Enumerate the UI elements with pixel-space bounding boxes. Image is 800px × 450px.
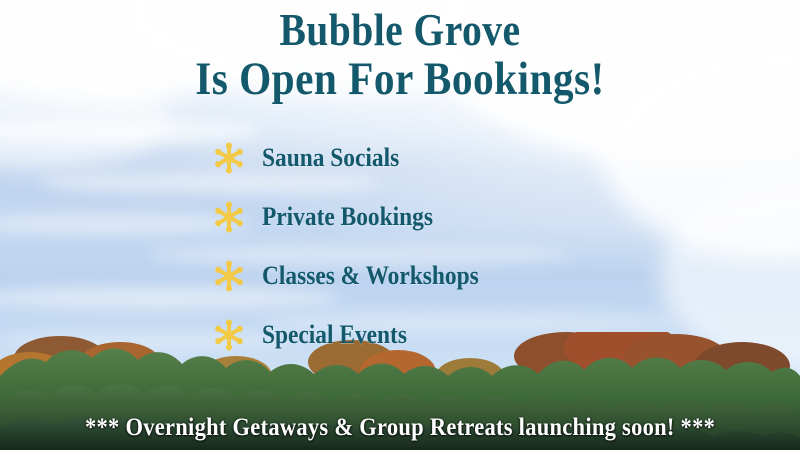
gold-starburst-icon xyxy=(212,318,246,352)
footer-banner: *** Overnight Getaways & Group Retreats … xyxy=(0,414,800,442)
gold-starburst-icon xyxy=(212,200,246,234)
list-item[interactable]: Private Bookings xyxy=(212,187,672,246)
page-title: Bubble Grove Is Open For Bookings! xyxy=(0,8,800,103)
promo-poster: Bubble Grove Is Open For Bookings! xyxy=(0,0,800,450)
headline-line-1: Bubble Grove xyxy=(48,8,752,53)
list-item[interactable]: Sauna Socials xyxy=(212,128,672,187)
list-item[interactable]: Classes & Workshops xyxy=(212,246,672,305)
list-item-label: Special Events xyxy=(262,320,407,350)
list-item-label: Classes & Workshops xyxy=(262,261,479,291)
list-item-label: Private Bookings xyxy=(262,202,433,232)
offerings-list: Sauna Socials xyxy=(212,128,672,364)
list-item-label: Sauna Socials xyxy=(262,143,399,173)
gold-starburst-icon xyxy=(212,141,246,175)
footer-text: *** Overnight Getaways & Group Retreats … xyxy=(85,414,715,442)
gold-starburst-icon xyxy=(212,259,246,293)
list-item[interactable]: Special Events xyxy=(212,305,672,364)
headline-line-2: Is Open For Bookings! xyxy=(48,56,752,103)
